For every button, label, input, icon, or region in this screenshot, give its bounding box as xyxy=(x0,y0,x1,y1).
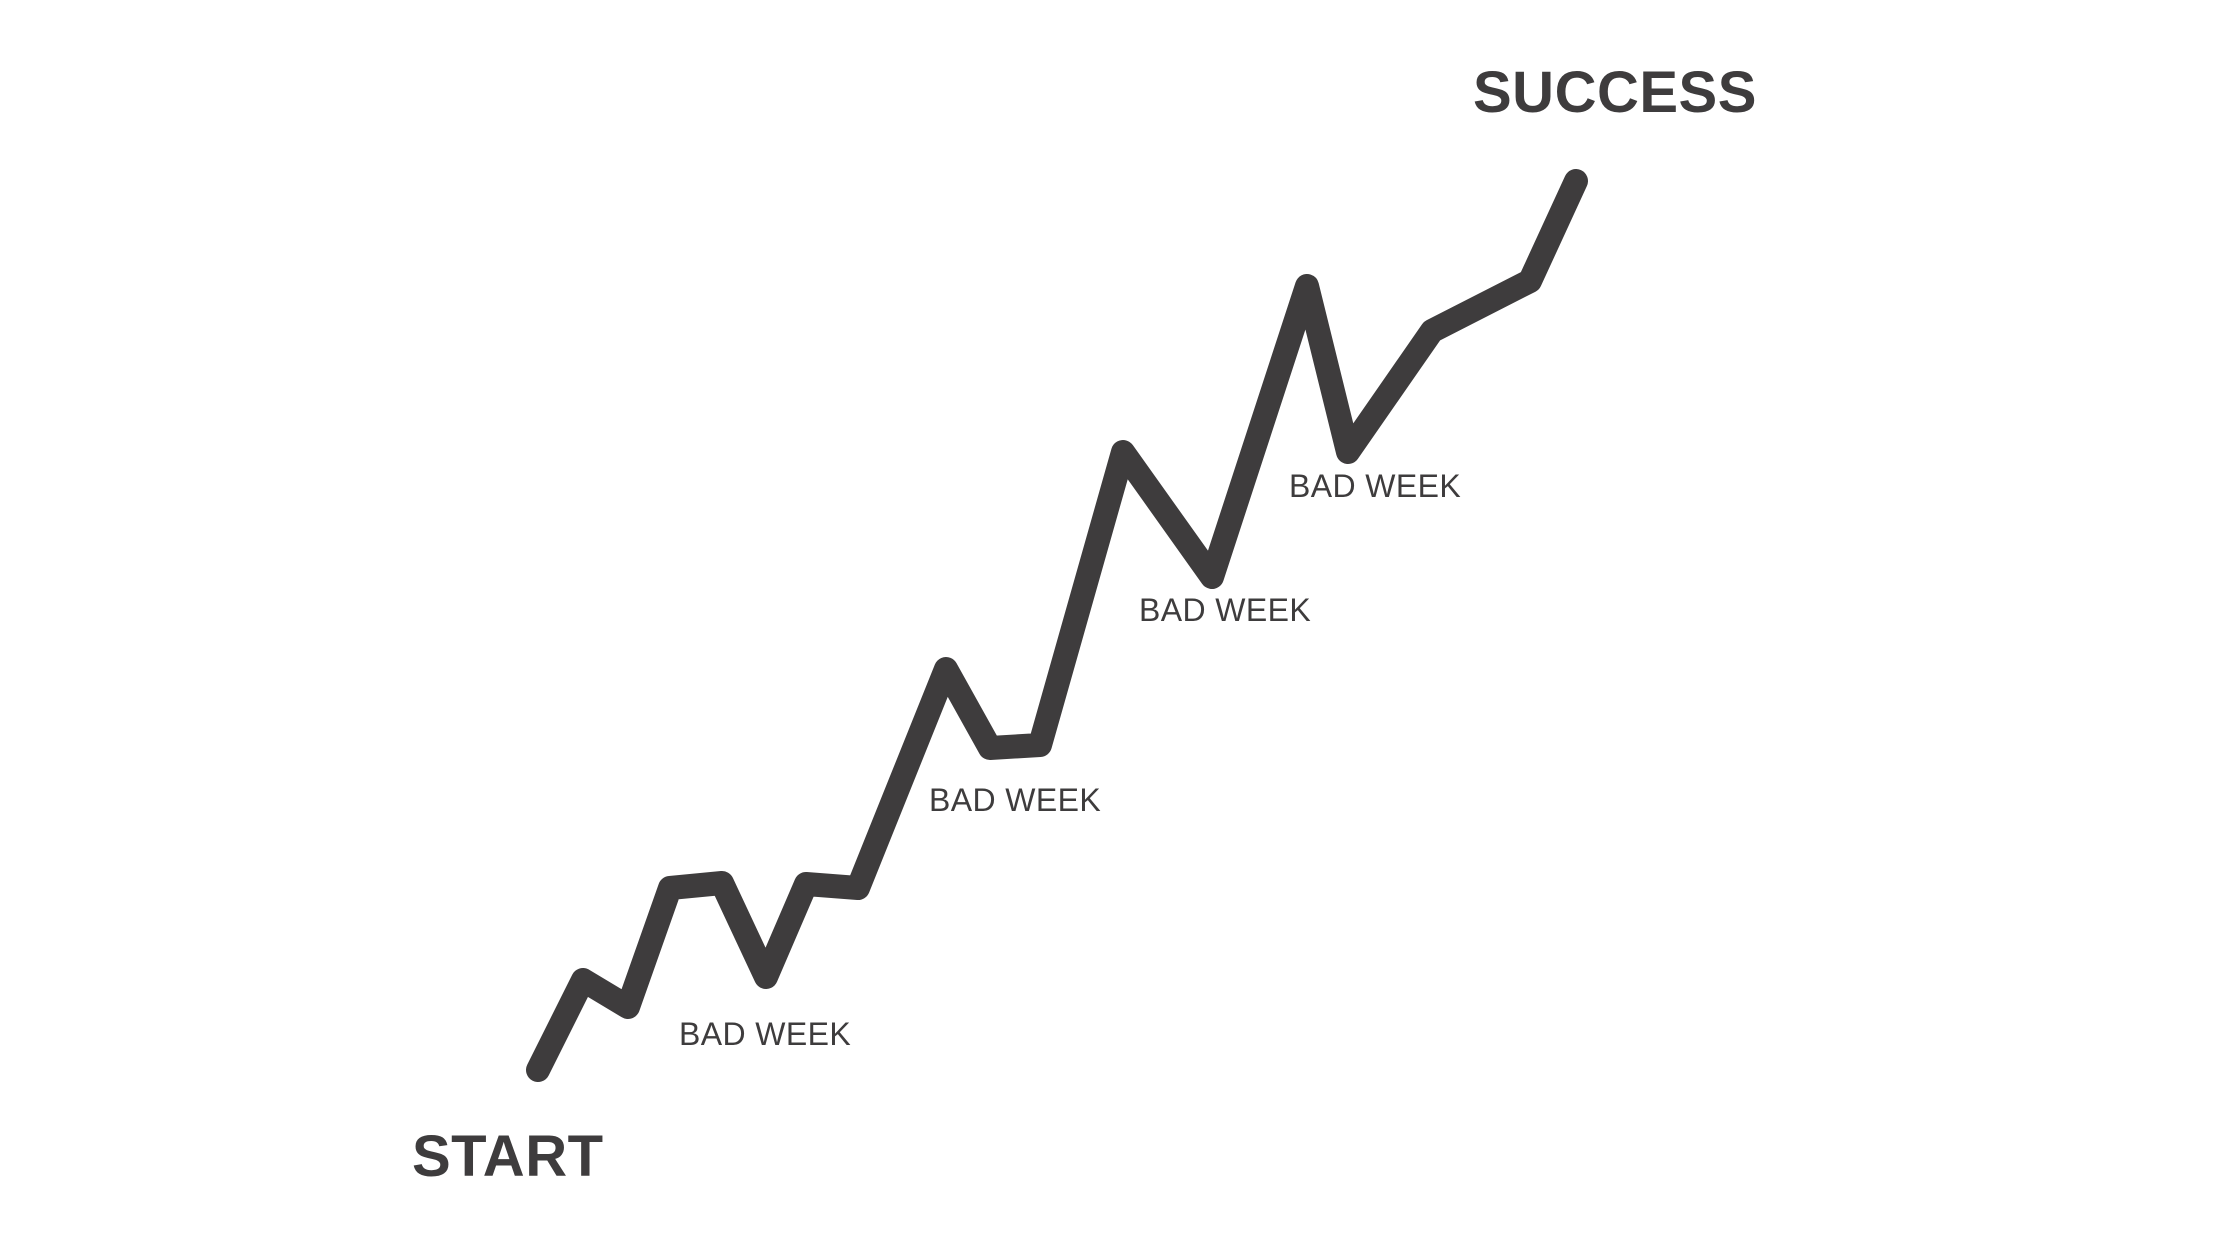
start-label: START xyxy=(412,1128,604,1186)
bad-week-label-4: BAD WEEK xyxy=(1289,470,1461,502)
progress-line-chart xyxy=(0,0,2240,1260)
bad-week-label-1: BAD WEEK xyxy=(679,1018,851,1050)
success-label: SUCCESS xyxy=(1473,64,1757,122)
progress-line-path xyxy=(538,181,1576,1070)
chart-canvas: START SUCCESS BAD WEEK BAD WEEK BAD WEEK… xyxy=(0,0,2240,1260)
bad-week-label-2: BAD WEEK xyxy=(929,784,1101,816)
bad-week-label-3: BAD WEEK xyxy=(1139,594,1311,626)
